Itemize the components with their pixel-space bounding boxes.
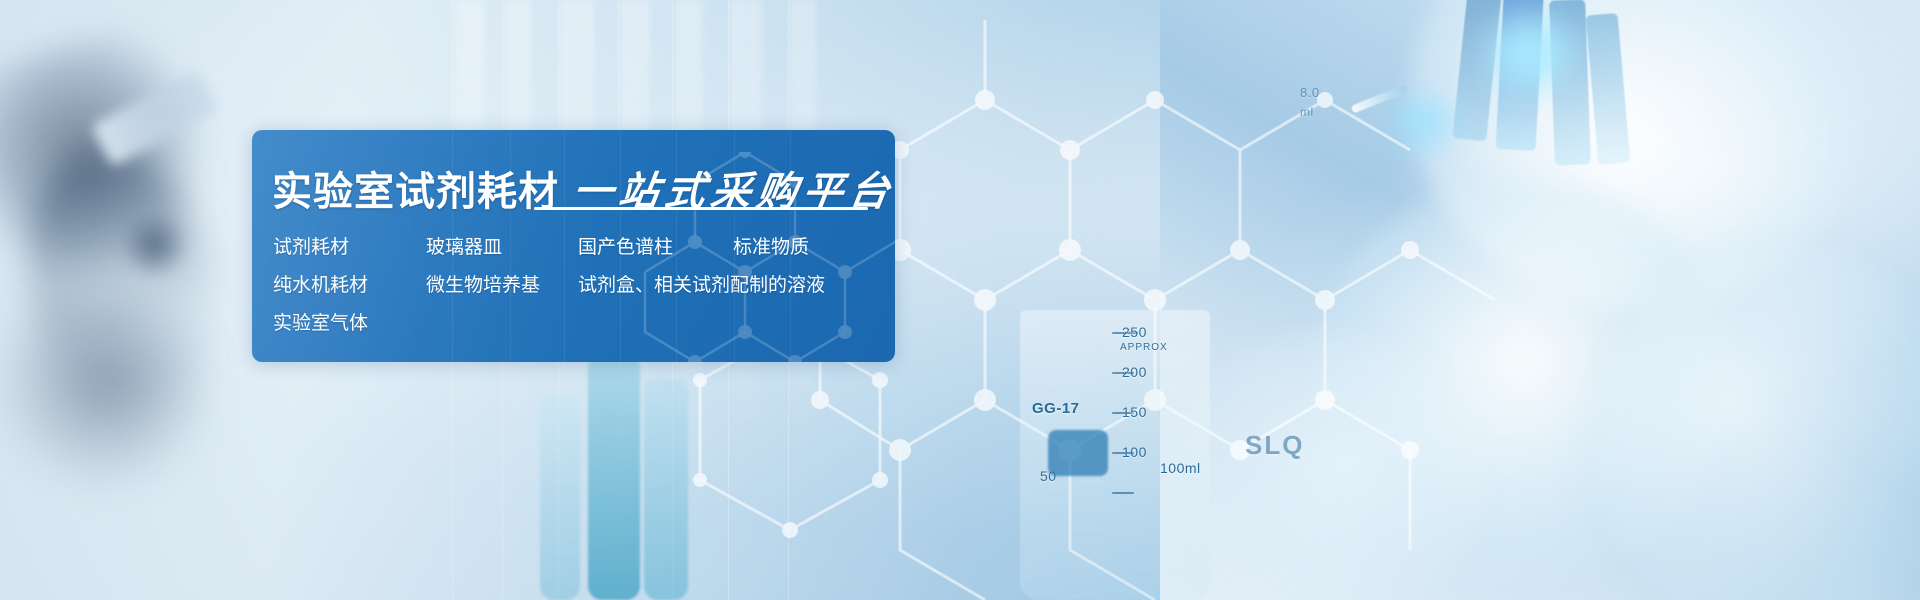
beaker-grad-150: 150 xyxy=(1122,404,1147,420)
beaker-approx-label: APPROX xyxy=(1120,342,1168,353)
category-item-domestic-chromatography-column[interactable]: 国产色谱柱 xyxy=(578,228,733,266)
category-row-1: 试剂耗材 玻璃器皿 国产色谱柱 标准物质 xyxy=(273,228,883,266)
beaker-volume-label: 100ml xyxy=(1160,460,1201,476)
beaker-grad-100: 100 xyxy=(1122,444,1147,460)
hero-banner: 250 APPROX 200 150 100 50 GG-17 100ml SL… xyxy=(0,0,1920,600)
category-list: 试剂耗材 玻璃器皿 国产色谱柱 标准物质 纯水机耗材 微生物培养基 试剂盒、相关… xyxy=(273,228,883,342)
vial-scale-label-2: ml xyxy=(1300,105,1314,119)
promo-card: 实验室试剂耗材 一站式采购平台 试剂耗材 玻璃器皿 国产色谱柱 标准物质 纯水机… xyxy=(252,130,895,362)
category-row-2: 纯水机耗材 微生物培养基 试剂盒、相关试剂配制的溶液 xyxy=(273,266,883,304)
category-item-reference-materials[interactable]: 标准物质 xyxy=(733,228,883,266)
headline-underline xyxy=(534,207,868,210)
beaker-grad-200: 200 xyxy=(1122,364,1147,380)
category-item-laboratory-gases[interactable]: 实验室气体 xyxy=(273,304,426,342)
vial-scale-label-1: 8.0 xyxy=(1300,85,1320,100)
beaker-liquid xyxy=(1048,430,1108,476)
beaker-grad-250: 250 xyxy=(1122,324,1147,340)
category-item-water-purifier-consumables[interactable]: 纯水机耗材 xyxy=(273,266,426,304)
category-item-glassware[interactable]: 玻璃器皿 xyxy=(426,228,578,266)
headline: 实验室试剂耗材 一站式采购平台 xyxy=(272,152,892,214)
category-item-reagent-consumables[interactable]: 试剂耗材 xyxy=(273,228,426,266)
beaker-graphic: 250 APPROX 200 150 100 50 GG-17 100ml xyxy=(1020,300,1240,600)
beaker-brand-label: SLQ xyxy=(1245,430,1304,461)
category-row-3: 实验室气体 xyxy=(273,304,883,342)
beaker-glass-code: GG-17 xyxy=(1032,400,1080,417)
headline-bold-text: 实验室试剂耗材 xyxy=(272,170,559,214)
category-item-microbial-culture-media[interactable]: 微生物培养基 xyxy=(426,266,578,304)
category-item-reagent-kits-and-solutions[interactable]: 试剂盒、相关试剂配制的溶液 xyxy=(578,266,878,304)
